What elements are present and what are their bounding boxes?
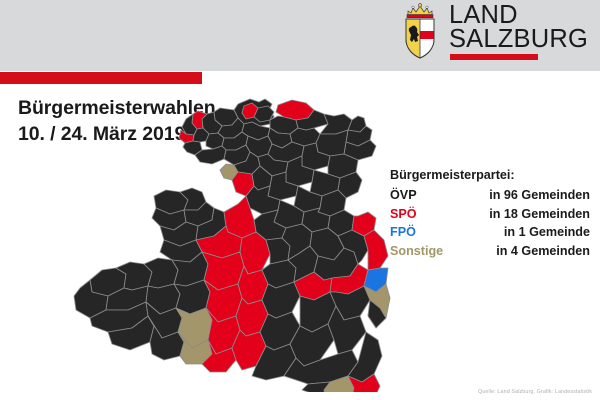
legend-row-fpo: FPÖ in 1 Gemeinde [390, 223, 590, 242]
legend-heading: Bürgermeisterpartei: [390, 168, 590, 182]
legend-count-fpo: in 1 Gemeinde [504, 223, 590, 242]
legend-count-sonstige: in 4 Gemeinden [496, 242, 590, 261]
legend-row-ovp: ÖVP in 96 Gemeinden [390, 186, 590, 205]
legend-party-ovp: ÖVP [390, 186, 417, 205]
map-municipalities [74, 99, 390, 392]
legend-row-sonstige: Sonstige in 4 Gemeinden [390, 242, 590, 261]
salzburg-municipality-map [62, 92, 392, 392]
legend-party-fpo: FPÖ [390, 223, 416, 242]
legend-party-spo: SPÖ [390, 205, 417, 224]
legend-party-sonstige: Sonstige [390, 242, 443, 261]
page-header: LAND SALZBURG [0, 0, 600, 71]
source-attribution: Quelle: Land Salzburg, Grafik: Landessta… [478, 389, 592, 395]
legend-row-spo: SPÖ in 18 Gemeinden [390, 205, 590, 224]
map-container [62, 92, 392, 392]
land-salzburg-logo: LAND SALZBURG [400, 3, 588, 61]
logo-wordmark: LAND SALZBURG [449, 3, 588, 60]
legend-count-ovp: in 96 Gemeinden [489, 186, 590, 205]
logo-line-salzburg: SALZBURG [449, 28, 588, 52]
infographic-page: LAND SALZBURG Bürgermeisterwahlen 10. / … [0, 0, 600, 400]
logo-underline [450, 54, 538, 60]
legend: Bürgermeisterpartei: ÖVP in 96 Gemeinden… [390, 168, 590, 260]
header-accent-bar [0, 72, 202, 84]
salzburg-coat-of-arms-icon [400, 3, 440, 61]
legend-count-spo: in 18 Gemeinden [489, 205, 590, 224]
